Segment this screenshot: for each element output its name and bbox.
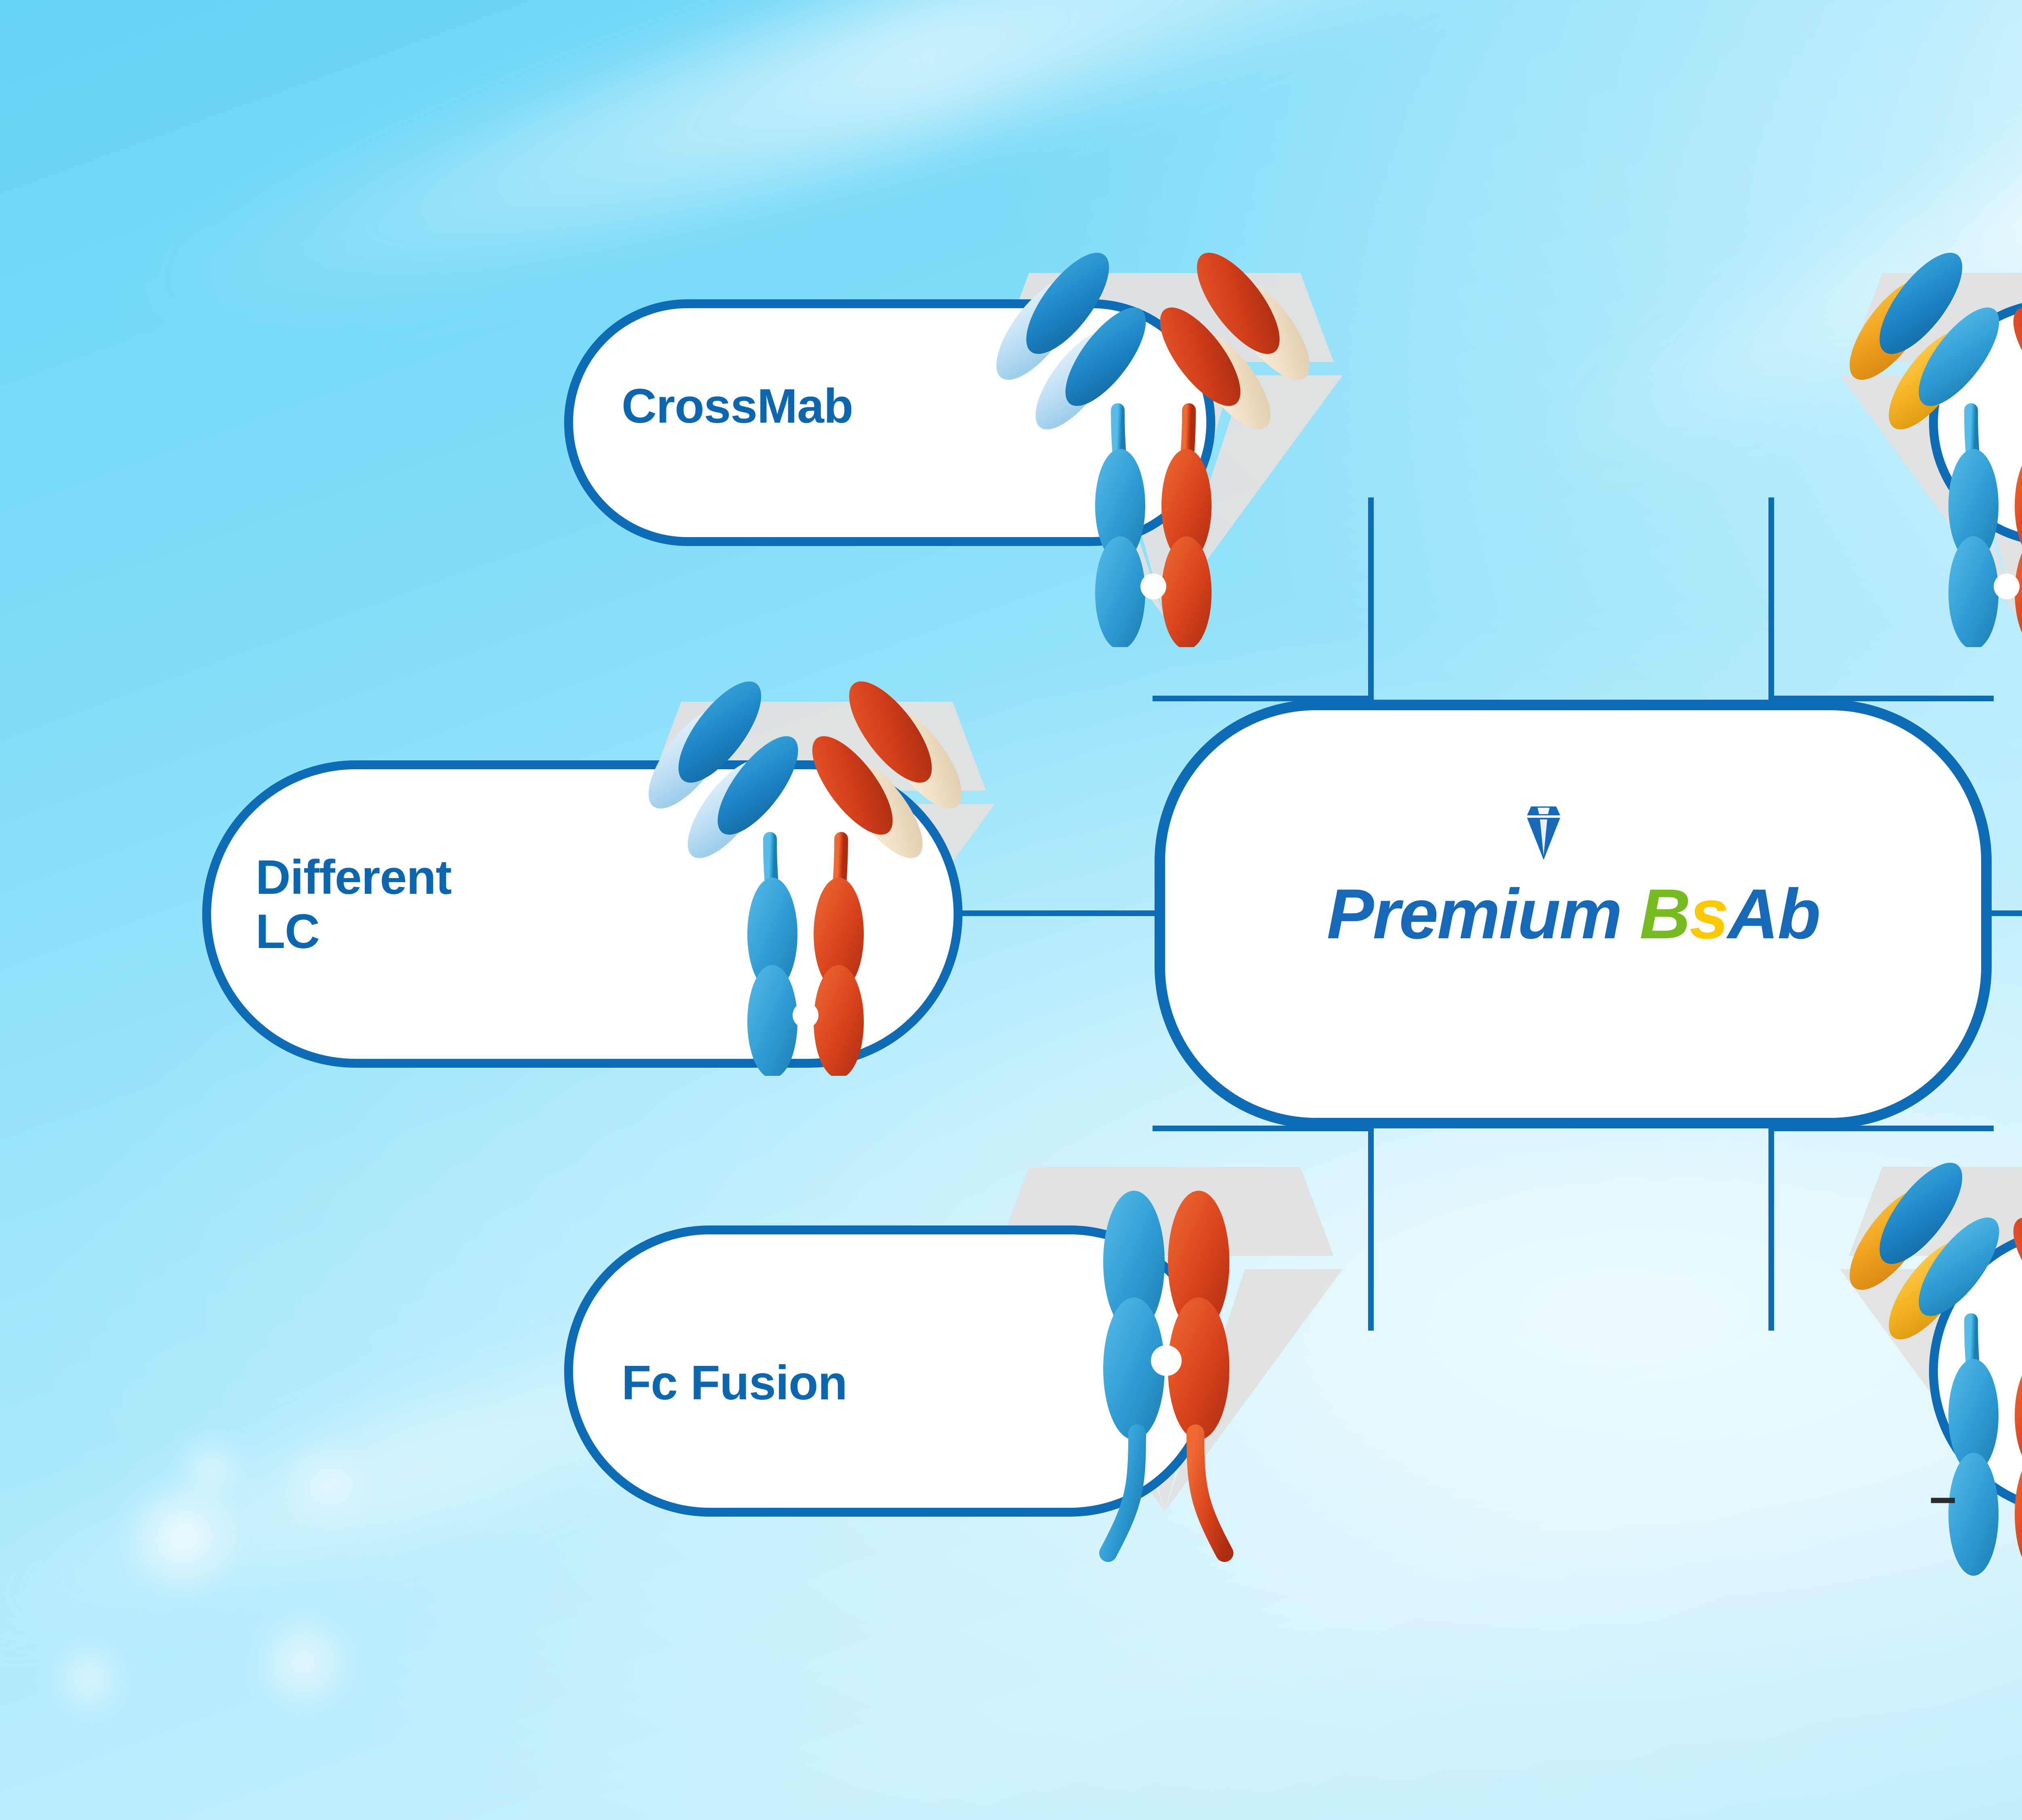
node-label-different-lc: Different LC	[256, 850, 451, 959]
background-bokeh	[251, 1610, 356, 1715]
center-title-s: s	[1690, 875, 1728, 954]
background-bokeh	[283, 1440, 372, 1529]
center-title-premium: Premium	[1327, 875, 1640, 954]
background-bokeh	[174, 1432, 247, 1505]
center-title-b: B	[1639, 875, 1689, 954]
diamond-gem-icon	[1525, 804, 1562, 861]
node-card-different-lc[interactable]: Different LC	[202, 760, 962, 1068]
center-title: Premium BsAb	[1327, 874, 1820, 955]
background-bokeh	[49, 1638, 129, 1719]
center-node[interactable]: Premium BsAb	[1155, 700, 1992, 1128]
node-card-fc-fusion[interactable]: Fc Fusion	[564, 1225, 1215, 1517]
node-label-crossmab: CrossMab	[622, 379, 853, 433]
node-label-fc-fusion: Fc Fusion	[622, 1356, 847, 1410]
charge-minus-sign: −	[1929, 1476, 1957, 1524]
node-card-crossmab[interactable]: CrossMab	[564, 299, 1215, 546]
center-title-ab: Ab	[1728, 875, 1819, 954]
